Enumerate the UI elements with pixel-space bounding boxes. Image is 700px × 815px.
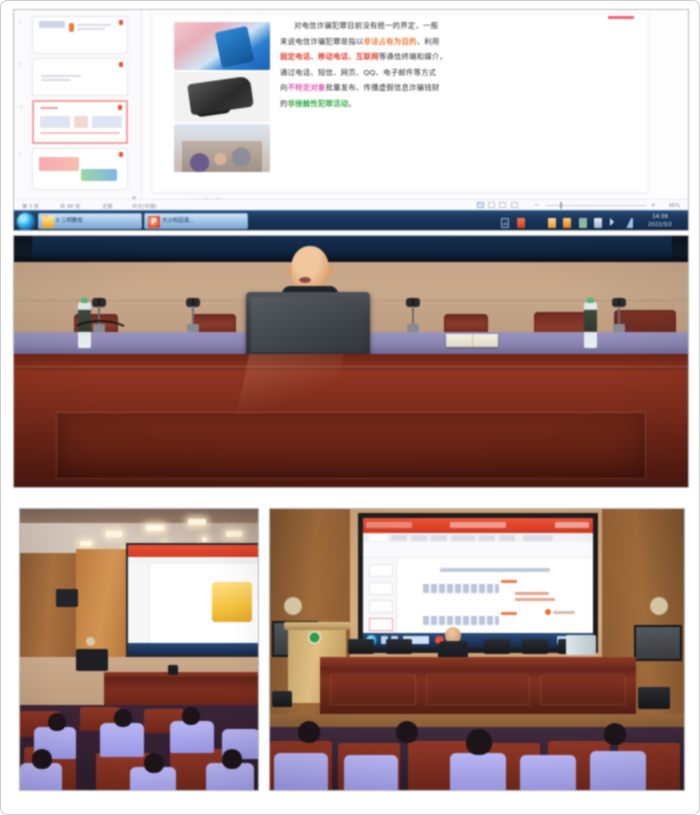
slide-annotation — [515, 598, 555, 601]
ceiling-downlight — [202, 537, 207, 542]
presenter-ear — [287, 266, 292, 277]
laptop-lid — [246, 292, 370, 360]
ribbon-tab — [499, 535, 515, 541]
slide-text-line: 通过电话、短信、网页、QQ、电子邮件等方式 — [280, 65, 620, 81]
zoom-in-icon[interactable]: + — [651, 201, 656, 209]
window-controls — [555, 522, 589, 528]
ribbon-tab — [451, 535, 475, 541]
powerpoint-icon — [148, 216, 160, 228]
slide-heading-text — [423, 616, 499, 625]
taskbar-clock[interactable]: 14:39 2022/3/2 — [638, 213, 682, 229]
slide-text-line: 的非接触性犯罪活动。 — [280, 96, 620, 112]
zoom-out-icon[interactable]: − — [534, 201, 539, 209]
rostrum-panel — [426, 675, 530, 705]
slide-text-line: 固定电话、移动电话、互联网等通信终端和媒介， — [280, 49, 620, 65]
slide-artwork — [212, 582, 252, 622]
student-head — [48, 713, 66, 731]
monitor — [76, 649, 108, 671]
rostrum-highlight — [237, 354, 344, 414]
taskbar-item-powerpoint[interactable]: 大沙校园演... — [144, 213, 248, 229]
folder-icon — [42, 216, 54, 228]
photo-presenter-at-rostrum — [13, 235, 689, 488]
signal-icon[interactable] — [625, 218, 633, 228]
ribbon-tab — [391, 535, 407, 541]
thumbnail-wordart-block — [39, 157, 79, 171]
student-head — [222, 749, 242, 769]
ime-icon[interactable] — [532, 218, 540, 228]
presenter-ear — [328, 266, 333, 277]
taskbar-item-label: 0 三明教校 — [56, 218, 83, 224]
wall-speaker — [56, 589, 78, 607]
microphone-stem — [192, 306, 195, 326]
slideshow-button[interactable] — [511, 202, 518, 208]
thumbnail-chart-block — [81, 169, 117, 181]
ribbon-tab — [411, 535, 427, 541]
family-at-computer-photo — [174, 124, 270, 172]
photo-auditorium-angled-view — [19, 508, 259, 791]
rostrum — [320, 667, 636, 717]
student-head — [466, 729, 492, 755]
slide-thumbnail-number: 4 — [19, 151, 21, 156]
rostrum-front-panel — [14, 354, 688, 487]
zoom-knob[interactable] — [560, 202, 562, 209]
thumbnail-body-block — [92, 116, 122, 128]
slide-thumbnail — [369, 600, 393, 613]
slide-thumbnail[interactable]: 1 — [32, 16, 128, 54]
slide-sorter-button[interactable] — [488, 202, 495, 208]
projection-screen — [126, 543, 258, 657]
student-uniform — [590, 751, 646, 790]
thumbnail-text-line — [41, 75, 81, 77]
flame-icon[interactable] — [548, 218, 556, 228]
normal-view-button[interactable] — [477, 202, 484, 208]
slide-annotation — [501, 612, 517, 615]
presenter-mouth — [299, 276, 311, 283]
thumbnail-text-line — [40, 132, 120, 134]
slide-text-line: 来说电信诈骗犯罪是指以非法占有为目的，利用 — [280, 34, 620, 50]
rostrum-panel — [330, 675, 416, 705]
windows-taskbar[interactable]: 0 三明教校 大沙校园演... ck — [14, 210, 688, 230]
powerpoint-application-window: 1 2 3 — [14, 10, 688, 230]
thumbnail-body-block — [40, 116, 70, 128]
thumbnail-logo-block — [39, 21, 65, 28]
window-title — [450, 522, 506, 528]
bottle-cap — [81, 298, 88, 303]
thumbnail-accent-badge — [119, 62, 123, 67]
thumbnail-text-line — [40, 107, 58, 109]
status-slide-count: 共 48 张 — [60, 203, 80, 210]
microphone-base — [613, 324, 625, 332]
microphone — [186, 298, 200, 332]
slide-annotation — [501, 580, 517, 583]
network-icon[interactable] — [579, 218, 587, 228]
floor-speaker — [638, 687, 670, 709]
ribbon-toolbar — [363, 542, 593, 558]
student-uniform — [520, 755, 576, 790]
microphone-stem — [618, 306, 621, 326]
wall-plaque — [650, 597, 668, 615]
slide-thumbnail-selected[interactable]: 3 — [32, 100, 128, 144]
volume-icon[interactable] — [610, 218, 618, 228]
desk-monitor — [522, 639, 548, 654]
presenter-silhouette — [168, 665, 178, 675]
taskbar-item-label: 大沙校园演... — [162, 218, 194, 224]
thumbnail-text-line — [77, 28, 105, 30]
collage-page: 1 2 3 — [0, 0, 700, 815]
slide-thumbnail-number: 2 — [19, 61, 21, 66]
open-notebook — [446, 334, 498, 347]
ribbon-tab — [431, 535, 447, 541]
water-bottle — [584, 302, 597, 348]
powerpoint-status-bar: 第 3 张 共 48 张 主题 中文(中国) − + — [14, 199, 688, 210]
slide-thumbnail-selected — [369, 618, 393, 631]
rostrum-panel — [540, 675, 626, 705]
slide-text-line: 向不特定对象批量发布、传播虚假信息诈骗钱财 — [280, 80, 620, 96]
zoom-slider[interactable]: − + 46% — [526, 201, 682, 210]
slide-canvas — [397, 558, 593, 633]
thumbnail-accent-badge — [119, 152, 123, 157]
clock-date: 2022/3/2 — [648, 222, 672, 228]
microphone — [406, 298, 420, 332]
thumbnail-rail — [363, 558, 397, 633]
ribbon-tab-row — [363, 533, 593, 542]
slide-footer-badge — [545, 610, 575, 615]
status-theme-label: 主题 — [102, 203, 112, 210]
slide-body-text: 对电信诈骗犯罪目前没有统一的界定，一般 来说电信诈骗犯罪是指以非法占有为目的，利… — [280, 18, 620, 112]
reading-view-button[interactable] — [499, 202, 506, 208]
taskbar-item-folder[interactable]: 0 三明教校 — [38, 213, 142, 229]
ceiling-light — [106, 531, 122, 537]
thumbnail-accent-badge — [118, 105, 122, 110]
student-uniform — [274, 753, 328, 790]
ribbon-tab — [523, 535, 553, 541]
student-uniform — [344, 755, 398, 790]
audience-area — [20, 705, 258, 790]
thumbnail-text-line — [41, 79, 71, 81]
audience-area — [270, 727, 684, 790]
adobe-icon[interactable] — [517, 218, 525, 228]
student-uniform — [170, 721, 214, 753]
ck-icon[interactable]: ck — [501, 218, 509, 228]
slide-thumbnail-number: 3 — [20, 104, 22, 109]
rostrum-inset-panel — [56, 412, 646, 479]
ceiling-light — [146, 525, 164, 531]
thumbnail-rail — [128, 564, 150, 643]
slide-canvas[interactable]: 对电信诈骗犯罪目前没有统一的界定，一般 来说电信诈骗犯罪是指以非法占有为目的，利… — [152, 14, 648, 192]
thumbnail-accent-badge — [119, 20, 123, 25]
quick-access-toolbar — [366, 522, 412, 528]
photo-powerpoint-slide-screenshot: 1 2 3 — [13, 9, 689, 231]
water-bottle-row — [566, 635, 596, 655]
slide-thumbnail — [369, 582, 393, 595]
slide-thumbnail-number: 1 — [19, 19, 21, 24]
microphone — [612, 298, 626, 332]
powerpoint-ribbon — [363, 518, 593, 533]
ribbon-tab-active — [369, 535, 387, 541]
floor-speaker — [272, 691, 292, 707]
taskbar — [128, 643, 258, 655]
photo-auditorium-frontal-view — [269, 508, 685, 791]
slide-heading-text — [423, 584, 499, 593]
status-slide-indicator: 第 3 张 — [22, 203, 39, 210]
slide-thumbnail — [369, 564, 393, 577]
slide-title-text — [440, 568, 550, 572]
student-head — [114, 709, 132, 727]
thumbnail-figure-block — [69, 23, 74, 32]
slide-thumbnail[interactable]: 4 — [32, 148, 128, 190]
zoom-percent-label: 46% — [668, 203, 680, 209]
student-head — [604, 723, 626, 745]
cable — [70, 320, 130, 346]
bottle-cap — [587, 298, 594, 303]
microphone-base — [407, 324, 419, 332]
thumbnail-body-block — [74, 116, 88, 128]
slide-text-line: 对电信诈骗犯罪目前没有统一的界定，一般 — [280, 18, 620, 34]
slide-image-column — [174, 22, 270, 172]
desk-monitor — [348, 639, 374, 654]
powerpoint-ribbon — [128, 545, 258, 557]
desk-monitor — [484, 639, 510, 654]
microphone-base — [187, 324, 199, 332]
slide-annotation — [515, 592, 549, 595]
ceiling-light — [226, 531, 242, 537]
ceiling-light — [188, 519, 206, 525]
student-head — [32, 749, 52, 769]
ceiling-light — [80, 541, 92, 546]
shield-orange-icon[interactable] — [563, 218, 571, 228]
clock-time: 14:39 — [652, 214, 668, 220]
system-tray[interactable]: ck — [501, 214, 636, 228]
student-head — [396, 721, 418, 743]
wall-plaque — [284, 597, 302, 615]
student-head — [298, 721, 320, 743]
security-icon[interactable] — [594, 218, 602, 228]
thumbnail-text-line — [77, 24, 111, 26]
lectern-emblem — [308, 631, 321, 644]
wall-grille — [634, 625, 682, 661]
wall-plaque — [86, 637, 95, 646]
student-uniform — [100, 723, 144, 757]
view-mode-buttons[interactable] — [477, 202, 520, 209]
hand-holding-smartphone-photo — [174, 22, 270, 70]
ribbon-tab-row — [128, 557, 258, 564]
slide-thumbnail[interactable]: 2 — [32, 58, 128, 96]
desk-monitor — [386, 639, 412, 654]
microphone-stem — [412, 306, 415, 326]
start-orb-icon[interactable] — [17, 213, 34, 230]
slide-thumbnail-rail[interactable]: 1 2 3 — [14, 10, 142, 205]
projection-screen — [358, 513, 598, 653]
landline-telephone-photo — [174, 72, 270, 122]
student-head — [144, 753, 164, 773]
student-head — [182, 707, 200, 725]
ribbon-tab — [479, 535, 495, 541]
background-projection-screen — [32, 236, 672, 258]
status-language-label[interactable]: 中文(中国) — [132, 203, 157, 210]
student-uniform — [450, 753, 506, 790]
